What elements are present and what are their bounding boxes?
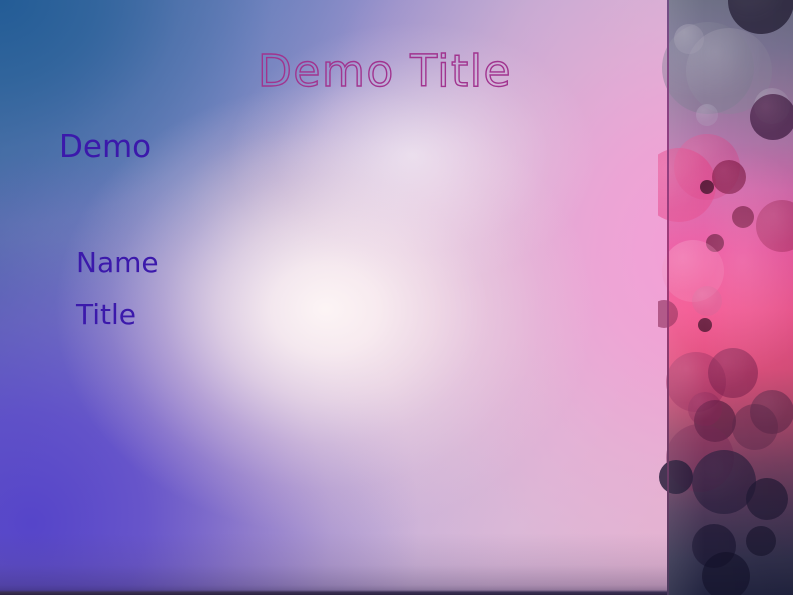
bubble-circle <box>708 348 758 398</box>
presenter-name[interactable]: Name <box>76 249 159 277</box>
bubble-circle <box>732 404 778 450</box>
bubble-circle <box>702 552 750 595</box>
slide-subtitle[interactable]: Demo <box>59 132 151 163</box>
bubble-circle <box>692 286 722 316</box>
panel-left-accent-strip <box>658 0 667 595</box>
bubble-circle <box>746 478 788 520</box>
bubble-circle <box>674 24 704 54</box>
bubble-circle <box>732 206 754 228</box>
presenter-role[interactable]: Title <box>76 301 136 329</box>
panel-left-divider-rule <box>667 0 669 595</box>
slide-title[interactable]: Demo Title <box>258 50 512 94</box>
bubble-circle <box>712 160 746 194</box>
presentation-slide: Demo Title Demo Name Title <box>0 0 793 595</box>
bubble-circle <box>750 94 793 140</box>
bubble-graphic-panel <box>658 0 793 595</box>
bubble-circle <box>688 392 722 426</box>
bubble-circle <box>698 318 712 332</box>
bubble-circle <box>746 526 776 556</box>
bubble-circle <box>700 180 714 194</box>
bubble-circle <box>696 104 718 126</box>
